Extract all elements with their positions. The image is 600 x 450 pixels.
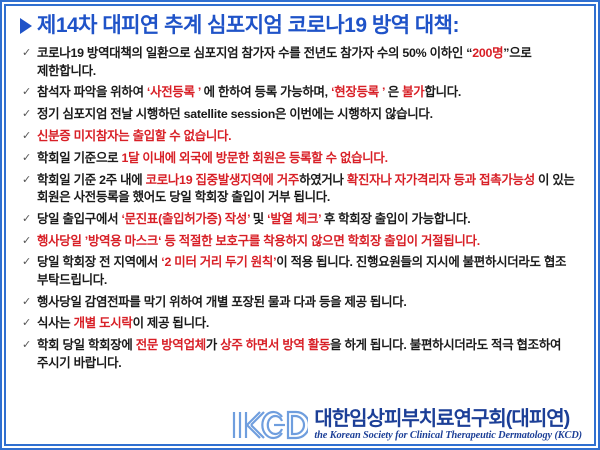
list-item-text: 참석자 파악을 위하여 ‘사전등록 ’ 에 한하여 등록 가능하며, ‘현장등록… <box>37 84 584 101</box>
list-item: ✓당일 학회장 전 지역에서 ‘2 미터 거리 두기 원칙’이 적용 됩니다. … <box>22 254 584 289</box>
list-item: ✓코로나19 방역대책의 일환으로 심포지엄 참가자 수를 전년도 참가자 수의… <box>22 45 584 80</box>
highlighted-text: 개별 도시락 <box>74 316 133 330</box>
list-item: ✓학회 당일 학회장에 전문 방역업체가 상주 하면서 방역 활동을 하게 됩니… <box>22 337 584 372</box>
list-item-text: 코로나19 방역대책의 일환으로 심포지엄 참가자 수를 전년도 참가자 수의 … <box>37 45 584 80</box>
body-text: 학회 당일 학회장에 <box>37 338 136 352</box>
check-icon: ✓ <box>22 84 37 101</box>
organization-name-ko: 대한임상피부치료연구회(대피연) <box>314 409 569 429</box>
list-item-text: 당일 출입구에서 ‘문진표(출입허가증) 작성’ 및 ‘발열 체크’ 후 학회장… <box>37 211 584 228</box>
body-text: 행사당일 감염전파를 막기 위하여 개별 포장된 물과 다과 등을 제공 됩니다… <box>37 295 407 309</box>
highlighted-text: ‘문진표(출입허가증) 작성’ <box>121 212 249 226</box>
body-text: 정기 심포지엄 전날 시행하던 satellite session은 이번에는 … <box>37 107 433 121</box>
check-icon: ✓ <box>22 106 37 123</box>
body-text: 및 <box>250 212 267 226</box>
notice-bullet-list: ✓코로나19 방역대책의 일환으로 심포지엄 참가자 수를 전년도 참가자 수의… <box>14 42 586 390</box>
body-text: 참석자 파악을 위하여 <box>37 85 147 99</box>
check-icon: ✓ <box>22 172 37 189</box>
poster-inner-frame: 제14차 대피연 추계 심포지엄 코로나19 방역 대책: ✓코로나19 방역대… <box>4 4 596 446</box>
list-item: ✓학회일 기준 2주 내에 코로나19 집중발생지역에 거주하였거나 확진자나 … <box>22 172 584 207</box>
list-item-text: 행사당일 ’방역용 마스크‘ 등 적절한 보호구를 착용하지 않으면 학회장 출… <box>37 233 584 250</box>
list-item-text: 학회일 기준으로 1달 이내에 외국에 방문한 회원은 등록할 수 없습니다. <box>37 150 584 167</box>
highlighted-text: ‘2 미터 거리 두기 원칙’ <box>161 255 276 269</box>
list-item: ✓행사당일 ’방역용 마스크‘ 등 적절한 보호구를 착용하지 않으면 학회장 … <box>22 233 584 250</box>
check-icon: ✓ <box>22 128 37 145</box>
body-text: 식사는 <box>37 316 74 330</box>
footer-logo-area: 대한임상피부치료연구회(대피연) the Korean Society for … <box>14 390 586 444</box>
list-item: ✓당일 출입구에서 ‘문진표(출입허가증) 작성’ 및 ‘발열 체크’ 후 학회… <box>22 211 584 228</box>
poster-frame: 제14차 대피연 추계 심포지엄 코로나19 방역 대책: ✓코로나19 방역대… <box>0 0 600 450</box>
list-item-text: 학회 당일 학회장에 전문 방역업체가 상주 하면서 방역 활동을 하게 됩니다… <box>37 337 584 372</box>
highlighted-text: ‘현장등록 ’ <box>331 85 385 99</box>
check-icon: ✓ <box>22 45 37 62</box>
list-item: ✓학회일 기준으로 1달 이내에 외국에 방문한 회원은 등록할 수 없습니다. <box>22 150 584 167</box>
highlighted-text: 확진자나 자가격리자 등과 접촉가능성 <box>347 173 535 187</box>
list-item: ✓식사는 개별 도시락이 제공 됩니다. <box>22 315 584 332</box>
kcd-logo-wordmark: 대한임상피부치료연구회(대피연) the Korean Society for … <box>314 409 582 441</box>
highlighted-text: 200명 <box>472 46 503 60</box>
page-title: 제14차 대피연 추계 심포지엄 코로나19 방역 대책: <box>37 14 459 38</box>
check-icon: ✓ <box>22 233 37 250</box>
body-text: 하였거나 <box>299 173 347 187</box>
body-text: 은 <box>385 85 402 99</box>
check-icon: ✓ <box>22 315 37 332</box>
body-text: 학회일 기준 2주 내에 <box>37 173 146 187</box>
highlighted-text: 행사당일 ’방역용 마스크‘ 등 적절한 보호구를 착용하지 않으면 학회장 출… <box>37 234 480 248</box>
list-item: ✓정기 심포지엄 전날 시행하던 satellite session은 이번에는… <box>22 106 584 123</box>
highlighted-text: 1달 이내에 외국에 방문한 회원은 등록할 수 없습니다. <box>121 151 387 165</box>
kcd-logo-icon <box>230 408 308 442</box>
body-text: 후 학회장 출입이 가능합니다. <box>321 212 470 226</box>
poster-title-row: 제14차 대피연 추계 심포지엄 코로나19 방역 대책: <box>14 12 586 42</box>
kcd-logo: 대한임상피부치료연구회(대피연) the Korean Society for … <box>230 408 582 442</box>
list-item: ✓참석자 파악을 위하여 ‘사전등록 ’ 에 한하여 등록 가능하며, ‘현장등… <box>22 84 584 101</box>
highlighted-text: 코로나19 집중발생지역에 거주 <box>146 173 299 187</box>
list-item-text: 정기 심포지엄 전날 시행하던 satellite session은 이번에는 … <box>37 106 584 123</box>
body-text: 이 제공 됩니다. <box>133 316 209 330</box>
body-text: 코로나19 방역대책의 일환으로 심포지엄 참가자 수를 전년도 참가자 수의 … <box>37 46 472 60</box>
organization-name-en: the Korean Society for Clinical Therapeu… <box>314 431 582 441</box>
highlighted-text: ‘발열 체크’ <box>267 212 321 226</box>
highlighted-text: 불가 <box>402 85 424 99</box>
body-text: 당일 학회장 전 지역에서 <box>37 255 161 269</box>
check-icon: ✓ <box>22 254 37 271</box>
triangle-right-icon <box>20 18 32 34</box>
highlighted-text: 신분증 미지참자는 출입할 수 없습니다. <box>37 129 231 143</box>
body-text: 학회일 기준으로 <box>37 151 121 165</box>
body-text: 합니다. <box>424 85 461 99</box>
list-item-text: 당일 학회장 전 지역에서 ‘2 미터 거리 두기 원칙’이 적용 됩니다. 진… <box>37 254 584 289</box>
check-icon: ✓ <box>22 150 37 167</box>
check-icon: ✓ <box>22 211 37 228</box>
list-item-text: 신분증 미지참자는 출입할 수 없습니다. <box>37 128 584 145</box>
list-item: ✓신분증 미지참자는 출입할 수 없습니다. <box>22 128 584 145</box>
check-icon: ✓ <box>22 294 37 311</box>
list-item-text: 행사당일 감염전파를 막기 위하여 개별 포장된 물과 다과 등을 제공 됩니다… <box>37 294 584 311</box>
highlighted-text: ‘사전등록 ’ <box>147 85 201 99</box>
highlighted-text: 상주 하면서 방역 활동 <box>220 338 330 352</box>
check-icon: ✓ <box>22 337 37 354</box>
list-item-text: 식사는 개별 도시락이 제공 됩니다. <box>37 315 584 332</box>
highlighted-text: 전문 방역업체 <box>136 338 206 352</box>
list-item: ✓행사당일 감염전파를 막기 위하여 개별 포장된 물과 다과 등을 제공 됩니… <box>22 294 584 311</box>
body-text: 가 <box>206 338 220 352</box>
body-text: 에 한하여 등록 가능하며, <box>201 85 331 99</box>
list-item-text: 학회일 기준 2주 내에 코로나19 집중발생지역에 거주하였거나 확진자나 자… <box>37 172 584 207</box>
body-text: 당일 출입구에서 <box>37 212 121 226</box>
